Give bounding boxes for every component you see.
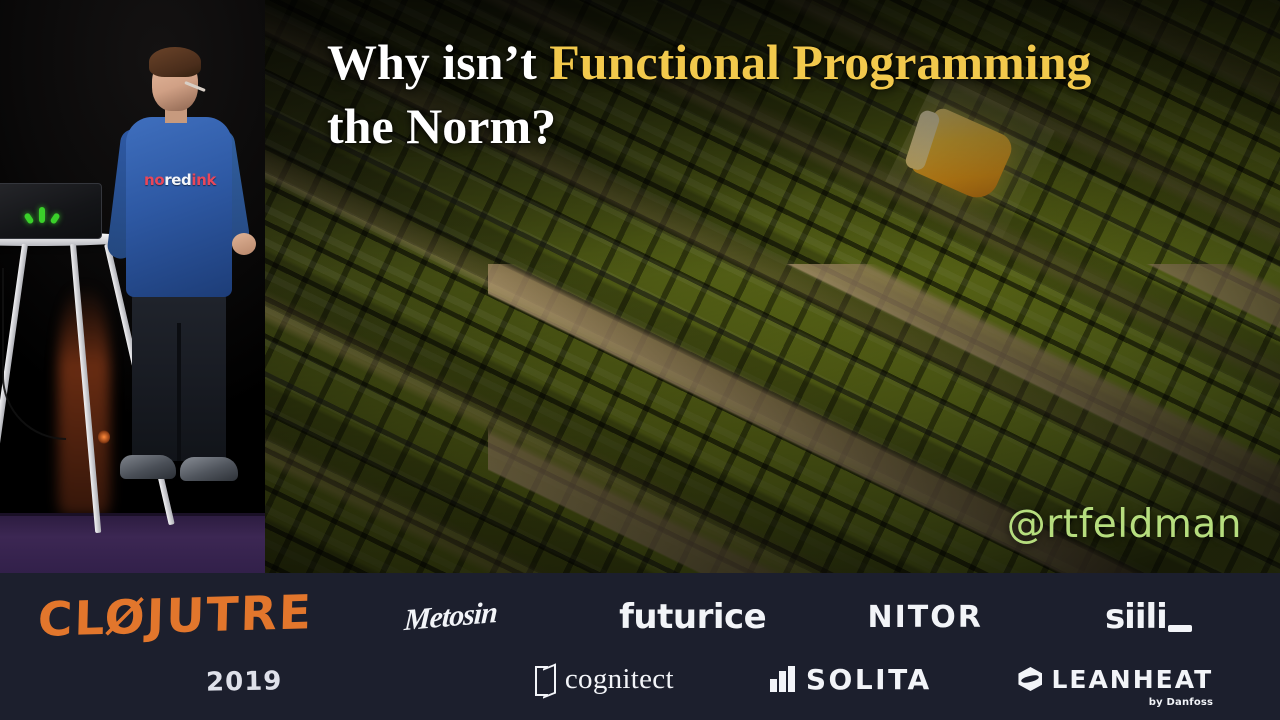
speaker-shoe-left [120,455,176,479]
cognitect-label: cognitect [565,663,674,696]
metosin-wordmark: Metosin [404,596,498,638]
solita-label: SOLITA [806,663,932,696]
speaker-torso [126,117,232,297]
sponsor-logo-futurice[interactable]: futurice [572,587,814,647]
siili-label: siili [1105,597,1167,637]
sponsor-bar: CLØJUTRE 2019 Metosin futurice NITOR sii… [0,573,1280,720]
slide-title: Why isn’t Functional Programmingthe Norm… [327,30,1227,158]
sponsor-logo-siili[interactable]: siili [1037,587,1260,647]
sponsor-row-2: cognitect SOLITA LEANHEAT by Danfoss [330,649,1260,709]
speaker-shoe-right [180,457,238,481]
slide-pane: Why isn’t Functional Programmingthe Norm… [265,0,1280,573]
conference-wordmark: CLØJUTRE [37,585,313,648]
presenter-laptop [0,183,102,239]
video-frame: noredink Why isn’t Functional Programmin… [0,0,1280,720]
cognitect-wordmark: cognitect [535,663,674,696]
nitor-wordmark: NITOR [868,600,983,635]
tshirt-logo: noredink [134,171,226,189]
tshirt-logo-part3: ink [191,171,216,189]
leanheat-hex-icon [1018,667,1042,691]
slide-title-line2: the Norm? [327,98,556,154]
leanheat-label: LEANHEAT [1051,665,1213,694]
leanheat-wordmark: LEANHEAT by Danfoss [1018,665,1213,694]
futurice-wordmark: futurice [619,597,766,637]
sponsor-logo-solita[interactable]: SOLITA [730,649,972,709]
underscore-icon [1168,625,1192,632]
slide-title-plain: Why isn’t [327,34,549,90]
sponsor-logo-metosin[interactable]: Metosin [330,587,572,647]
floor-light-spot [98,430,110,444]
speaker-right-hand [232,233,256,255]
tshirt-logo-part1: no [144,171,164,189]
cognitect-mark-icon [535,666,556,692]
slide-title-highlight: Functional Programming [549,34,1091,90]
razer-logo-icon [29,205,55,223]
solita-bars-icon [770,666,796,692]
stage-floor [0,513,265,573]
speaker-handle: @rtfeldman [1007,502,1242,547]
sponsor-row-1: Metosin futurice NITOR siili [330,587,1260,647]
leanheat-subtitle: by Danfoss [1149,697,1213,708]
speaker-hair [149,47,201,77]
tshirt-logo-part2: red [164,171,191,189]
siili-wordmark: siili [1105,597,1192,637]
sponsor-logo-cognitect[interactable]: cognitect [479,649,730,709]
sponsor-logo-grid: Metosin futurice NITOR siili cognitect [330,581,1260,713]
speaker-legs [132,289,226,461]
sponsor-logo-nitor[interactable]: NITOR [814,587,1037,647]
speaker-figure: noredink [110,37,260,517]
solita-wordmark: SOLITA [770,663,932,696]
conference-year: 2019 [205,666,282,697]
conference-logo: CLØJUTRE 2019 [38,589,288,699]
speaker-camera-pane: noredink [0,0,265,573]
sponsor-logo-leanheat[interactable]: LEANHEAT by Danfoss [972,649,1260,709]
